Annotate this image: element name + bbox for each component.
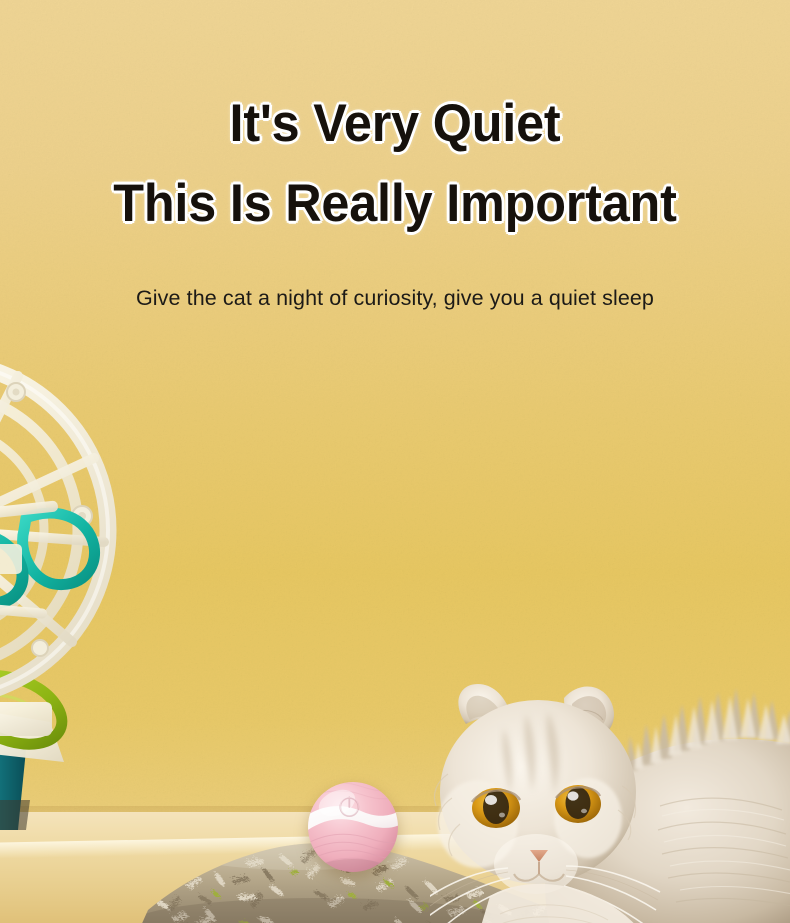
smart-rolling-cat-ball[interactable] — [305, 779, 401, 875]
subheadline: Give the cat a night of curiosity, give … — [0, 286, 790, 311]
headline-line-1: It's Very Quiet — [20, 97, 771, 150]
cat-eye-left — [472, 788, 520, 828]
promo-banner: It's Very Quiet This Is Really Important… — [0, 0, 790, 923]
cat-eye-right — [555, 785, 601, 823]
ferris-wheel-cat-toy — [0, 330, 152, 830]
headline-line-2: This Is Really Important — [20, 177, 771, 230]
scottish-fold-cat — [430, 596, 790, 923]
toy-gondola-teal-outer — [23, 513, 95, 585]
